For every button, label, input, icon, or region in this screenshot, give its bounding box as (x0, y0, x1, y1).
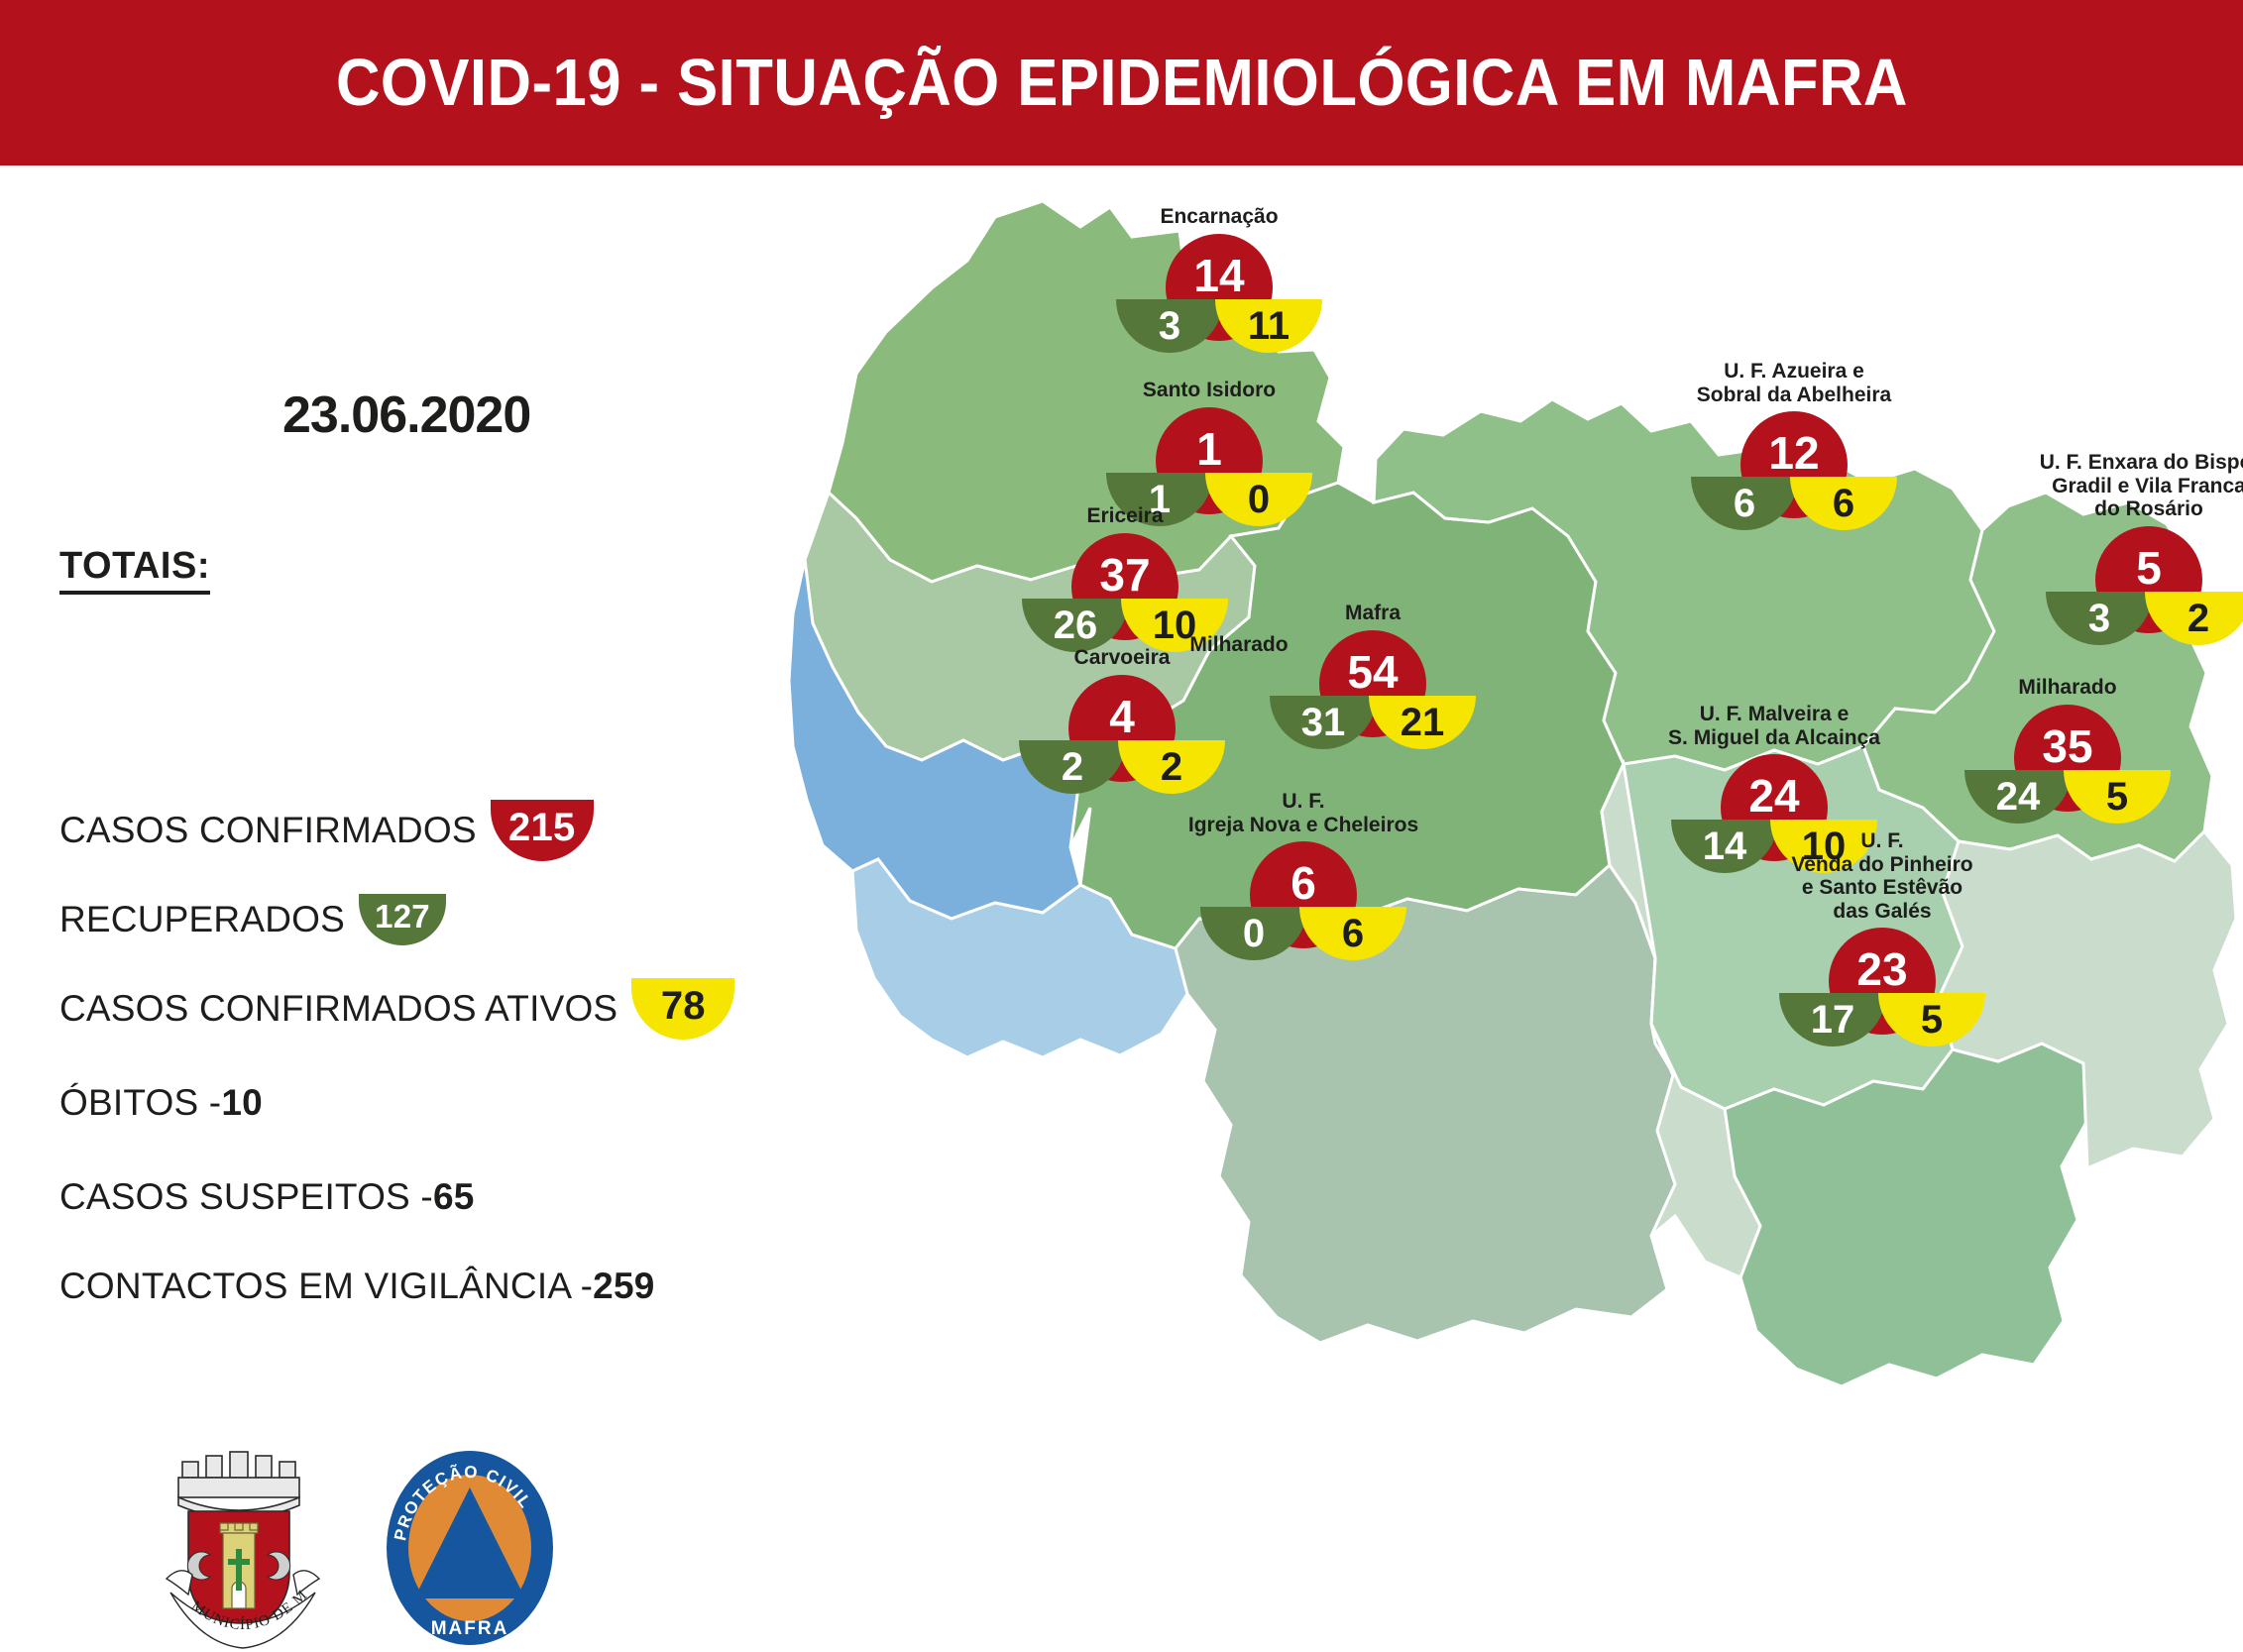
marker-active-igreja-nova-cheleiros: 6 (1299, 907, 1406, 960)
totals-heading: TOTAIS: (59, 545, 210, 595)
marker-label-enxara-do-bispo-gradil-vila-franca-do-rosario: U. F. Enxara do Bispo, Gradil e Vila Fra… (1980, 451, 2243, 521)
marker-azueira-sobral-da-abelheira[interactable]: U. F. Azueira e Sobral da Abelheira 12 6… (1626, 360, 1963, 528)
total-label-recuperados: RECUPERADOS (59, 899, 345, 940)
total-value-casos-suspeitos: 65 (433, 1176, 475, 1218)
summary-panel: 23.06.2020 TOTAIS: CASOS CONFIRMADOS 215… (0, 165, 783, 1586)
marker-recovered-enxara-do-bispo-gradil-vila-franca-do-rosario: 3 (2046, 592, 2153, 645)
marker-graphic-carvoeira: 4 2 2 (1008, 675, 1236, 792)
marker-graphic-azueira-sobral-da-abelheira: 12 6 6 (1680, 411, 1908, 528)
marker-graphic-enxara-do-bispo-gradil-vila-franca-do-rosario: 5 3 2 (2035, 526, 2243, 643)
marker-santo-isidoro[interactable]: Santo Isidoro 1 1 0 (1041, 379, 1378, 524)
total-value-contactos-vigilancia: 259 (593, 1266, 654, 1307)
marker-active-venda-do-pinheiro-santo-estevao-das-gales: 5 (1878, 993, 1985, 1046)
total-label-obitos: ÓBITOS - (59, 1082, 221, 1124)
total-label-casos-confirmados: CASOS CONFIRMADOS (59, 810, 477, 851)
marker-label-ericeira: Ericeira (956, 504, 1293, 528)
marker-recovered-igreja-nova-cheleiros: 0 (1200, 907, 1307, 960)
marker-active-azueira-sobral-da-abelheira: 6 (1790, 477, 1897, 530)
total-row-contactos-vigilancia: CONTACTOS EM VIGILÂNCIA - 259 (59, 1266, 655, 1307)
marker-label-igreja-nova-cheleiros: U. F. Igreja Nova e Cheleiros (1135, 790, 1472, 836)
marker-recovered-carvoeira: 2 (1019, 740, 1126, 794)
marker-recovered-ericeira: 26 (1022, 599, 1129, 652)
marker-label-azueira-sobral-da-abelheira: U. F. Azueira e Sobral da Abelheira (1626, 360, 1963, 406)
marker-recovered-venda-do-pinheiro-santo-estevao-das-gales: 17 (1779, 993, 1886, 1046)
page-title: COVID-19 - SITUAÇÃO EPIDEMIOLÓGICA EM MA… (336, 45, 1908, 121)
mafra-municipality-map: Encarnação 14 3 11 Santo Isidoro 1 1 0 E… (783, 165, 2243, 1586)
marker-label-venda-do-pinheiro-santo-estevao-das-gales: U. F. Venda do Pinheiro e Santo Estêvão … (1714, 829, 2051, 923)
marker-igreja-nova-cheleiros[interactable]: U. F. Igreja Nova e Cheleiros 6 0 6 (1135, 790, 1472, 958)
total-badge-casos-confirmados: 215 (491, 800, 594, 861)
marker-label-malveira-s-miguel-da-alcainca: U. F. Malveira e S. Miguel da Alcainça (1606, 703, 1943, 749)
total-badge-casos-ativos: 78 (631, 978, 734, 1040)
page-header: COVID-19 - SITUAÇÃO EPIDEMIOLÓGICA EM MA… (0, 0, 2243, 165)
marker-enxara-do-bispo-gradil-vila-franca-do-rosario[interactable]: U. F. Enxara do Bispo, Gradil e Vila Fra… (1980, 451, 2243, 643)
total-row-obitos: ÓBITOS - 10 (59, 1082, 263, 1124)
municipio-de-mafra-coat-of-arms-icon: MUNICÍPIO DE MAFRA (149, 1444, 337, 1652)
protecao-civil-mafra-emblem-icon: PROTEÇÃO CIVIL MAFRA (379, 1444, 562, 1652)
region-note-milharado-exclave: Milharado (1189, 633, 1288, 657)
marker-active-encarnacao: 11 (1215, 299, 1322, 353)
marker-active-enxara-do-bispo-gradil-vila-franca-do-rosario: 2 (2145, 592, 2243, 645)
logos-row: MUNICÍPIO DE MAFRA PROTEÇÃO CIVIL MAFRA (149, 1444, 562, 1652)
total-value-obitos: 10 (221, 1082, 263, 1124)
marker-label-mafra: Mafra (1204, 602, 1541, 625)
region-venda-do-pinheiro-santo-estevao-das-gales (1725, 1044, 2089, 1386)
total-label-casos-suspeitos: CASOS SUSPEITOS - (59, 1176, 433, 1218)
marker-graphic-igreja-nova-cheleiros: 6 0 6 (1189, 841, 1417, 958)
marker-active-mafra: 21 (1369, 696, 1476, 749)
marker-active-carvoeira: 2 (1118, 740, 1225, 794)
marker-venda-do-pinheiro-santo-estevao-das-gales[interactable]: U. F. Venda do Pinheiro e Santo Estêvão … (1714, 829, 2051, 1045)
total-row-casos-ativos: CASOS CONFIRMADOS ATIVOS 78 (59, 978, 734, 1040)
marker-label-milharado: Milharado (1899, 676, 2236, 700)
total-badge-recuperados: 127 (359, 894, 446, 945)
marker-label-santo-isidoro: Santo Isidoro (1041, 379, 1378, 402)
marker-graphic-encarnacao: 14 3 11 (1105, 234, 1333, 351)
marker-recovered-mafra: 31 (1270, 696, 1377, 749)
marker-milharado[interactable]: Milharado 35 24 5 (1899, 676, 2236, 822)
svg-text:MAFRA: MAFRA (431, 1618, 509, 1639)
total-row-casos-confirmados: CASOS CONFIRMADOS 215 (59, 800, 594, 861)
marker-graphic-milharado: 35 24 5 (1954, 705, 2182, 822)
marker-recovered-milharado: 24 (1964, 770, 2072, 824)
total-row-recuperados: RECUPERADOS 127 (59, 894, 446, 945)
marker-graphic-venda-do-pinheiro-santo-estevao-das-gales: 23 17 5 (1768, 928, 1996, 1045)
total-row-casos-suspeitos: CASOS SUSPEITOS - 65 (59, 1176, 475, 1218)
total-label-contactos-vigilancia: CONTACTOS EM VIGILÂNCIA - (59, 1266, 593, 1307)
marker-encarnacao[interactable]: Encarnação 14 3 11 (1051, 205, 1388, 351)
marker-graphic-mafra: 54 31 21 (1259, 630, 1487, 747)
marker-label-encarnacao: Encarnação (1051, 205, 1388, 229)
total-label-casos-ativos: CASOS CONFIRMADOS ATIVOS (59, 988, 617, 1030)
marker-active-milharado: 5 (2064, 770, 2171, 824)
marker-mafra[interactable]: Mafra 54 31 21 (1204, 602, 1541, 747)
marker-recovered-encarnacao: 3 (1116, 299, 1223, 353)
marker-recovered-azueira-sobral-da-abelheira: 6 (1691, 477, 1798, 530)
report-date: 23.06.2020 (282, 385, 530, 445)
